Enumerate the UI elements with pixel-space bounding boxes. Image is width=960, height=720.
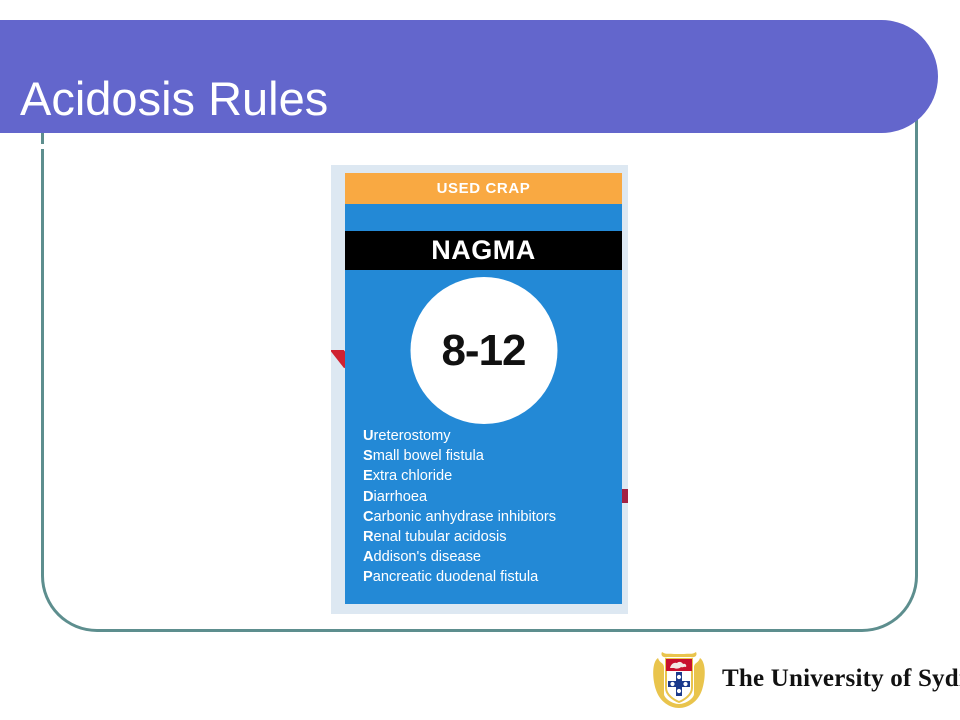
mnemonic-cause-text: reterostomy [374,428,451,444]
mnemonic-cause-item: Ureterostomy [363,426,613,446]
mnemonic-cause-item: Pancreatic duodenal fistula [363,567,613,587]
title-underline [0,144,838,149]
mnemonic-cause-text: arbonic anhydrase inhibitors [374,509,557,525]
red-artwork-fragment-right [622,489,628,503]
footer-logo: The University of Sydney [650,648,960,710]
mnemonic-cause-initial: A [363,549,374,565]
mnemonic-cause-item: Diarrhoea [363,487,613,507]
mnemonic-title-label: NAGMA [431,235,536,266]
mnemonic-cause-text: iarrhoea [374,489,428,505]
mnemonic-cause-initial: S [363,448,373,464]
anion-gap-value: 8-12 [441,326,525,376]
mnemonic-cause-initial: C [363,509,374,525]
mnemonic-header-label: USED CRAP [437,180,531,197]
mnemonic-cause-initial: E [363,468,373,484]
mnemonic-cause-text: xtra chloride [373,468,453,484]
mnemonic-cause-text: enal tubular acidosis [374,529,507,545]
mnemonic-header-bar: USED CRAP [345,173,622,204]
mnemonic-card: USED CRAP NAGMA 8-12 UreterostomySmall b… [345,173,622,604]
mnemonic-cause-text: ddison's disease [374,549,481,565]
university-crest-icon [650,648,708,710]
mnemonic-cause-initial: D [363,489,374,505]
title-banner: Acidosis Rules [0,20,938,133]
mnemonic-cause-text: mall bowel fistula [373,448,484,464]
page-title: Acidosis Rules [20,75,328,122]
mnemonic-cause-list: UreterostomySmall bowel fistulaExtra chl… [363,426,613,588]
mnemonic-cause-item: Carbonic anhydrase inhibitors [363,507,613,527]
mnemonic-title-bar: NAGMA [345,231,622,270]
mnemonic-cause-initial: P [363,569,373,585]
mnemonic-cause-item: Small bowel fistula [363,446,613,466]
mnemonic-cause-initial: R [363,529,374,545]
mnemonic-cause-item: Renal tubular acidosis [363,527,613,547]
mnemonic-cause-item: Extra chloride [363,466,613,486]
mnemonic-cause-text: ancreatic duodenal fistula [373,569,539,585]
mnemonic-cause-item: Addison's disease [363,547,613,567]
mnemonic-cause-initial: U [363,428,374,444]
slide: Acidosis Rules USED CRAP NAGMA 8-12 Uret… [0,0,960,720]
anion-gap-badge: 8-12 [410,277,557,424]
university-wordmark: The University of Sydney [722,665,960,693]
red-artwork-fragment-left [331,350,345,380]
